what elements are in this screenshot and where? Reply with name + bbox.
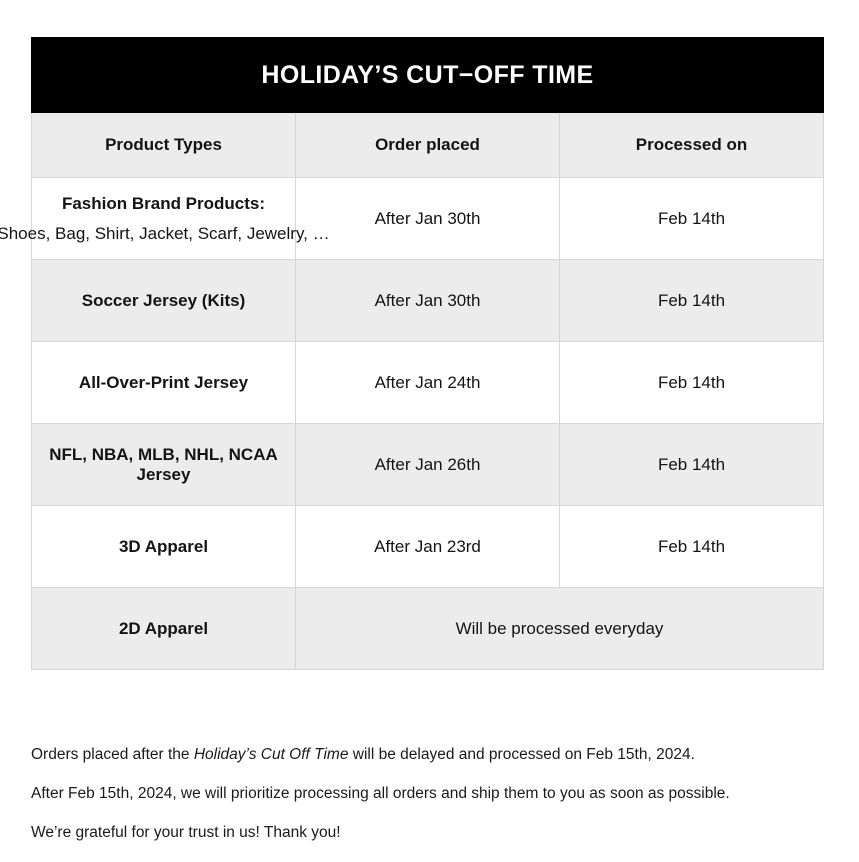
- note-line-1-emphasis: Holiday’s Cut Off Time: [194, 746, 349, 763]
- cell-order-placed-merged: Will be processed everyday: [296, 588, 824, 670]
- cell-product-type: Fashion Brand Products: Shoes, Bag, Shir…: [32, 178, 296, 260]
- cell-product-type: NFL, NBA, MLB, NHL, NCAA Jersey: [32, 424, 296, 506]
- product-stack: Fashion Brand Products: Shoes, Bag, Shir…: [32, 189, 295, 247]
- cell-processed-on: Feb 14th: [560, 260, 824, 342]
- table-row: NFL, NBA, MLB, NHL, NCAA Jersey After Ja…: [32, 424, 824, 506]
- holiday-cutoff-table: HOLIDAY’S CUT−OFF TIME Product Types Ord…: [31, 37, 824, 670]
- table-row: 2D Apparel Will be processed everyday: [32, 588, 824, 670]
- table-row: Fashion Brand Products: Shoes, Bag, Shir…: [32, 178, 824, 260]
- note-line-3: We’re grateful for your trust in us! Tha…: [31, 813, 841, 852]
- cell-order-placed: After Jan 23rd: [296, 506, 560, 588]
- holiday-cutoff-page: HOLIDAY’S CUT−OFF TIME Product Types Ord…: [0, 0, 859, 862]
- cell-processed-on: Feb 14th: [560, 178, 824, 260]
- product-subtitle: Shoes, Bag, Shirt, Jacket, Scarf, Jewelr…: [0, 219, 330, 248]
- cell-order-placed: After Jan 26th: [296, 424, 560, 506]
- page-title: HOLIDAY’S CUT−OFF TIME: [32, 38, 823, 112]
- note-line-1: Orders placed after the Holiday’s Cut Of…: [31, 735, 841, 774]
- cell-order-placed: After Jan 30th: [296, 260, 560, 342]
- cell-product-type: All-Over-Print Jersey: [32, 342, 296, 424]
- cell-product-type: Soccer Jersey (Kits): [32, 260, 296, 342]
- cell-order-placed: After Jan 30th: [296, 178, 560, 260]
- column-header-product-types: Product Types: [32, 113, 296, 178]
- table-header-row: Product Types Order placed Processed on: [32, 113, 824, 178]
- cell-order-placed: After Jan 24th: [296, 342, 560, 424]
- cell-processed-on: Feb 14th: [560, 342, 824, 424]
- note-line-1-part-2: will be delayed and processed on Feb 15t…: [348, 746, 694, 763]
- note-line-2: After Feb 15th, 2024, we will prioritize…: [31, 774, 841, 813]
- cell-product-type: 2D Apparel: [32, 588, 296, 670]
- table-row: Soccer Jersey (Kits) After Jan 30th Feb …: [32, 260, 824, 342]
- footer-notes: Orders placed after the Holiday’s Cut Of…: [31, 735, 841, 852]
- note-line-1-part-1: Orders placed after the: [31, 746, 194, 763]
- table-row: 3D Apparel After Jan 23rd Feb 14th: [32, 506, 824, 588]
- column-header-processed-on: Processed on: [560, 113, 824, 178]
- product-title: Fashion Brand Products:: [62, 189, 265, 218]
- table-row: All-Over-Print Jersey After Jan 24th Feb…: [32, 342, 824, 424]
- table-title-cell: HOLIDAY’S CUT−OFF TIME: [32, 38, 824, 113]
- cell-processed-on: Feb 14th: [560, 424, 824, 506]
- column-header-order-placed: Order placed: [296, 113, 560, 178]
- cell-processed-on: Feb 14th: [560, 506, 824, 588]
- cell-product-type: 3D Apparel: [32, 506, 296, 588]
- table-title-row: HOLIDAY’S CUT−OFF TIME: [32, 38, 824, 113]
